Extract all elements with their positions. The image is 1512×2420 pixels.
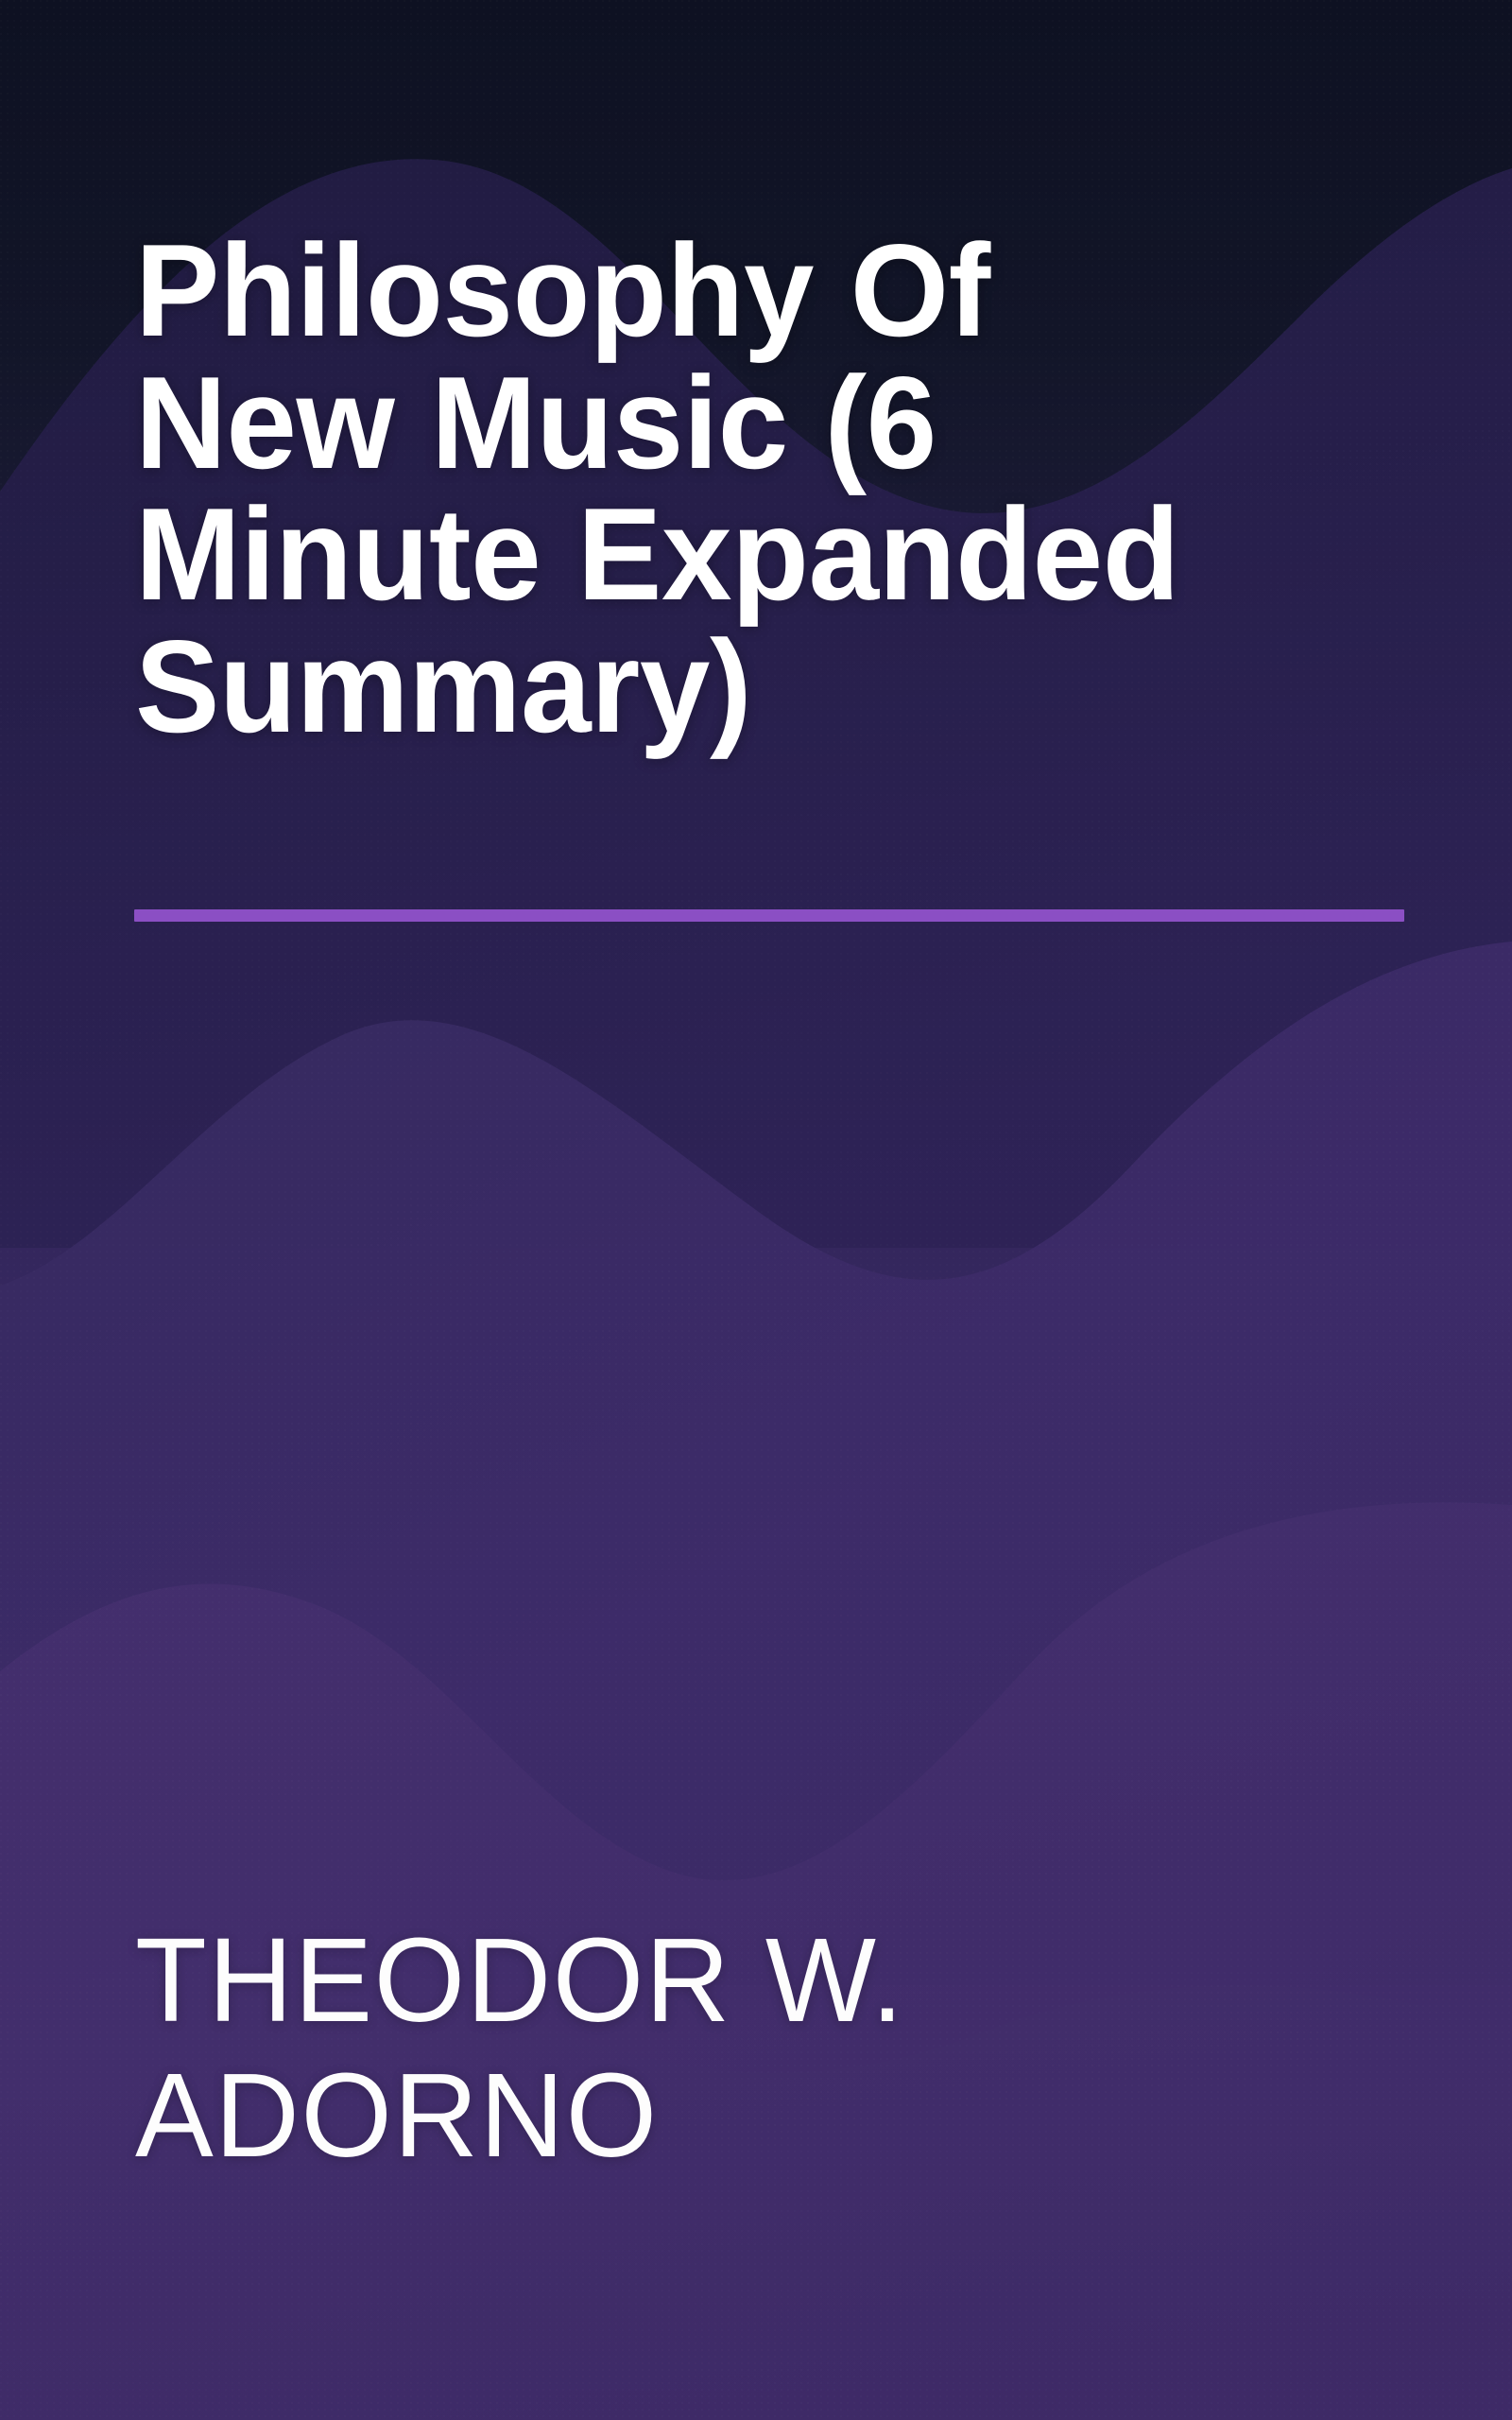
author-block: THEODOR W.ADORNO [135, 1912, 1439, 2183]
page-title: Philosophy OfNew Music (6Minute Expanded… [135, 225, 1375, 753]
title-line-2: New Music (6 [135, 350, 936, 496]
title-accent-bar [134, 909, 1404, 922]
title-line-1: Philosophy Of [135, 217, 990, 364]
title-block: Philosophy OfNew Music (6Minute Expanded… [135, 225, 1420, 753]
title-line-4: Summary) [135, 614, 751, 760]
author-name: THEODOR W.ADORNO [135, 1912, 1419, 2183]
author-line-1: THEODOR W. [135, 1913, 905, 2047]
title-line-3: Minute Expanded [135, 481, 1179, 628]
author-line-2: ADORNO [135, 2048, 659, 2182]
book-cover: Philosophy OfNew Music (6Minute Expanded… [0, 0, 1512, 2420]
